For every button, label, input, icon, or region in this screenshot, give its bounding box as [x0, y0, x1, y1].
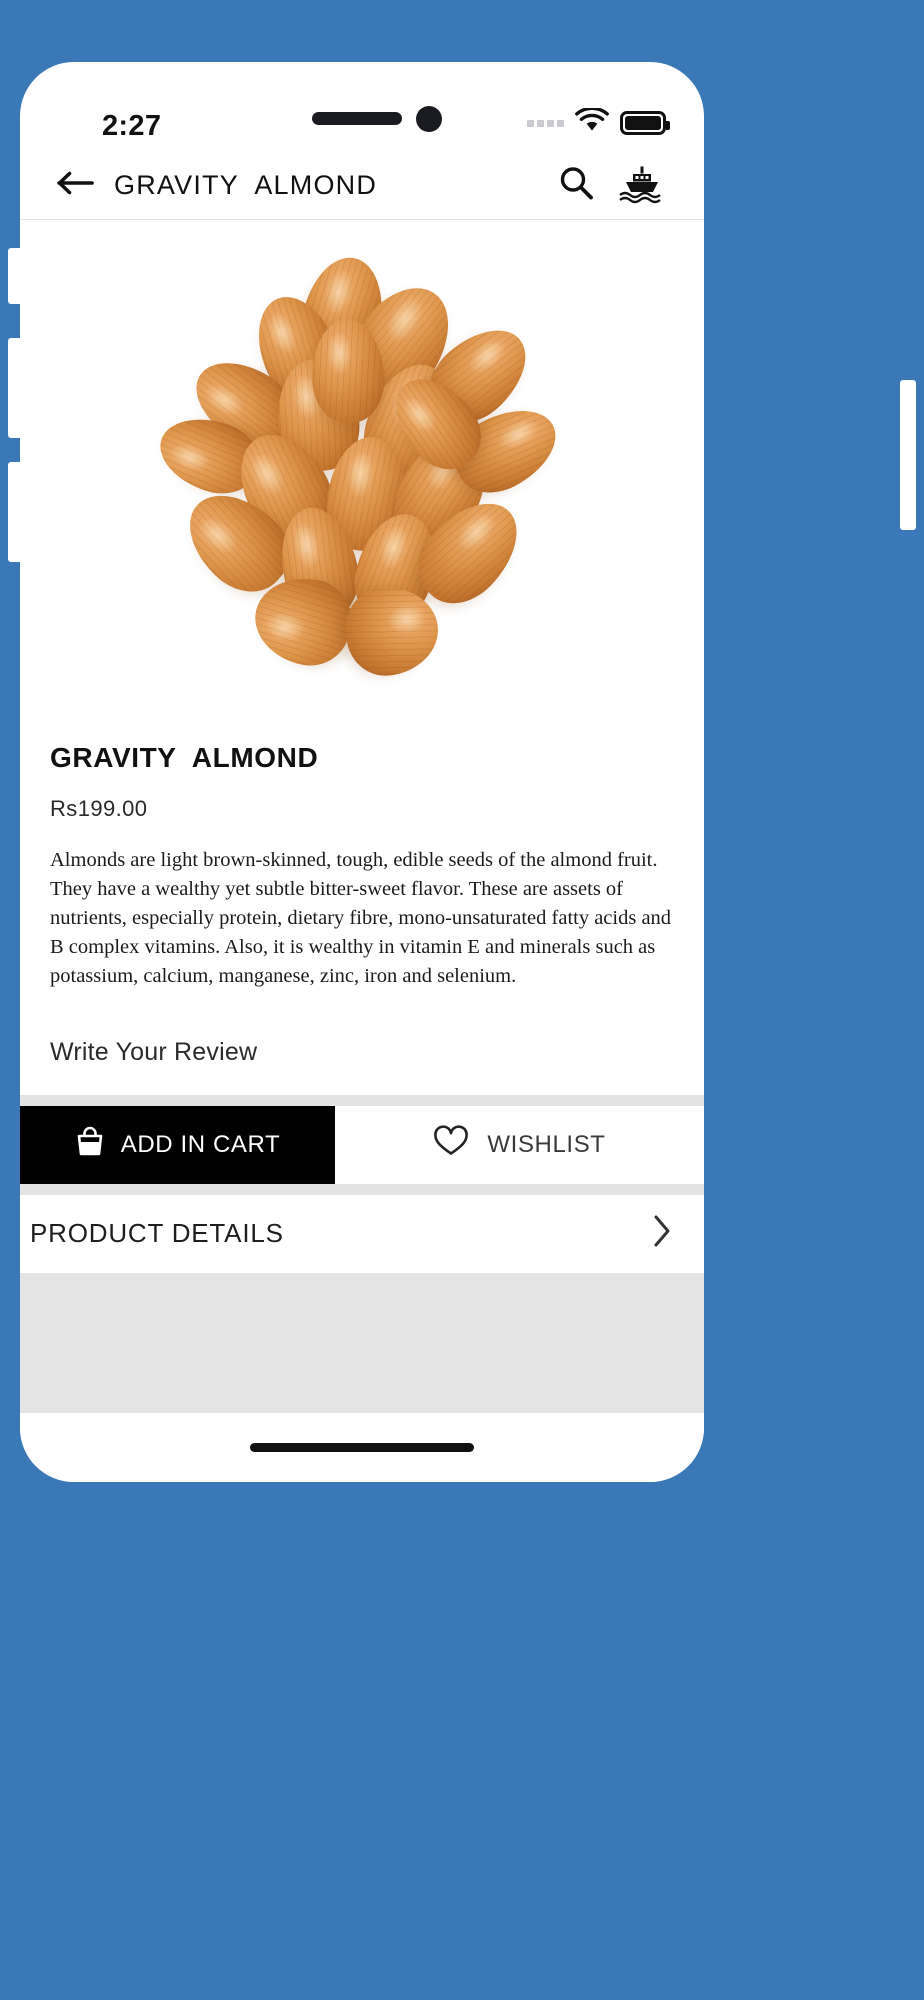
search-icon	[556, 163, 596, 208]
wifi-icon	[575, 108, 609, 138]
status-time: 2:27	[102, 110, 161, 143]
almonds-pile-image	[152, 255, 572, 685]
search-button[interactable]	[550, 160, 602, 212]
product-image	[20, 220, 704, 720]
details-panel-wrap	[20, 1273, 704, 1413]
page-title: GRAVITY ALMOND	[114, 170, 377, 201]
front-camera-dot	[416, 106, 442, 132]
product-scroll-area[interactable]: GRAVITY ALMOND Rs199.00 Almonds are ligh…	[20, 220, 704, 1482]
device-power-nub	[900, 380, 916, 530]
signal-dots-icon	[527, 120, 564, 127]
product-title: GRAVITY ALMOND	[50, 742, 674, 774]
product-description: Almonds are light brown-skinned, tough, …	[50, 846, 674, 992]
speaker-notch	[312, 112, 402, 125]
chevron-right-icon	[650, 1211, 674, 1256]
divider-band-bottom	[20, 1184, 704, 1195]
status-icons	[527, 108, 666, 138]
app-bar: GRAVITY ALMOND	[20, 152, 704, 220]
battery-full-icon	[620, 111, 666, 135]
back-button[interactable]	[52, 162, 100, 210]
details-placeholder-panel	[20, 1273, 704, 1413]
heart-icon	[433, 1125, 469, 1164]
divider-band-top	[20, 1095, 704, 1106]
wishlist-button[interactable]: WISHLIST	[335, 1106, 704, 1184]
add-in-cart-label: ADD IN CART	[121, 1131, 281, 1159]
write-review-link[interactable]: Write Your Review	[50, 1038, 674, 1067]
add-in-cart-button[interactable]: ADD IN CART	[20, 1106, 335, 1184]
phone-frame: 2:27 G	[20, 62, 704, 1482]
home-indicator[interactable]	[250, 1443, 474, 1452]
status-bar: 2:27	[20, 62, 704, 152]
product-price: Rs199.00	[50, 796, 674, 822]
product-details-row[interactable]: PRODUCT DETAILS	[20, 1195, 704, 1273]
product-info: GRAVITY ALMOND Rs199.00 Almonds are ligh…	[20, 720, 704, 1067]
action-row: ADD IN CART WISHLIST	[20, 1106, 704, 1184]
arrow-left-icon	[56, 169, 96, 202]
shopping-bag-icon	[75, 1125, 105, 1164]
product-details-label: PRODUCT DETAILS	[30, 1218, 284, 1249]
ship-boat-icon	[617, 162, 667, 209]
wishlist-label: WISHLIST	[487, 1131, 605, 1159]
shipping-button[interactable]	[616, 160, 668, 212]
